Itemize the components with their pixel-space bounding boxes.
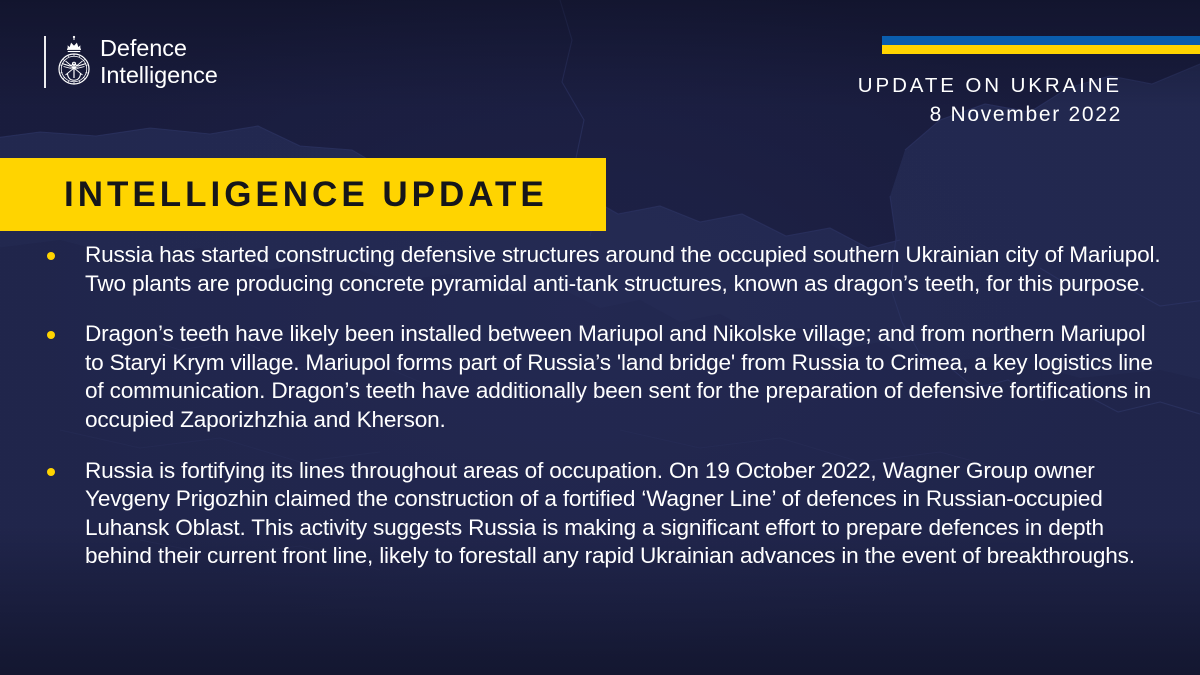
update-date: 8 November 2022 bbox=[858, 100, 1122, 130]
bullet-text: Russia has started constructing defensiv… bbox=[85, 241, 1168, 298]
logo-divider-rule bbox=[44, 36, 46, 88]
flag-blue-stripe bbox=[882, 36, 1200, 45]
ukraine-flag-bar-icon bbox=[882, 36, 1200, 54]
mod-crest-icon bbox=[57, 35, 91, 89]
update-label: UPDATE ON UKRAINE bbox=[858, 72, 1122, 100]
bullet-dot-icon bbox=[47, 468, 55, 476]
bullet-text: Dragon’s teeth have likely been installe… bbox=[85, 320, 1168, 434]
brand-line-1: Defence bbox=[100, 35, 218, 62]
bullet-list: Russia has started constructing defensiv… bbox=[40, 241, 1168, 571]
list-item: Dragon’s teeth have likely been installe… bbox=[40, 320, 1168, 434]
defence-intelligence-logo: Defence Intelligence bbox=[44, 33, 218, 91]
page-title: INTELLIGENCE UPDATE bbox=[0, 175, 548, 215]
intelligence-update-banner: INTELLIGENCE UPDATE bbox=[0, 158, 606, 231]
bullet-dot-icon bbox=[47, 252, 55, 260]
brand-wordmark: Defence Intelligence bbox=[100, 35, 218, 89]
bullet-text: Russia is fortifying its lines throughou… bbox=[85, 457, 1168, 571]
list-item: Russia is fortifying its lines throughou… bbox=[40, 457, 1168, 571]
bullet-dot-icon bbox=[47, 331, 55, 339]
list-item: Russia has started constructing defensiv… bbox=[40, 241, 1168, 298]
update-heading: UPDATE ON UKRAINE 8 November 2022 bbox=[858, 72, 1122, 130]
flag-yellow-stripe bbox=[882, 45, 1200, 54]
brand-line-2: Intelligence bbox=[100, 62, 218, 89]
intelligence-update-graphic: Defence Intelligence UPDATE ON UKRAINE 8… bbox=[0, 0, 1200, 675]
